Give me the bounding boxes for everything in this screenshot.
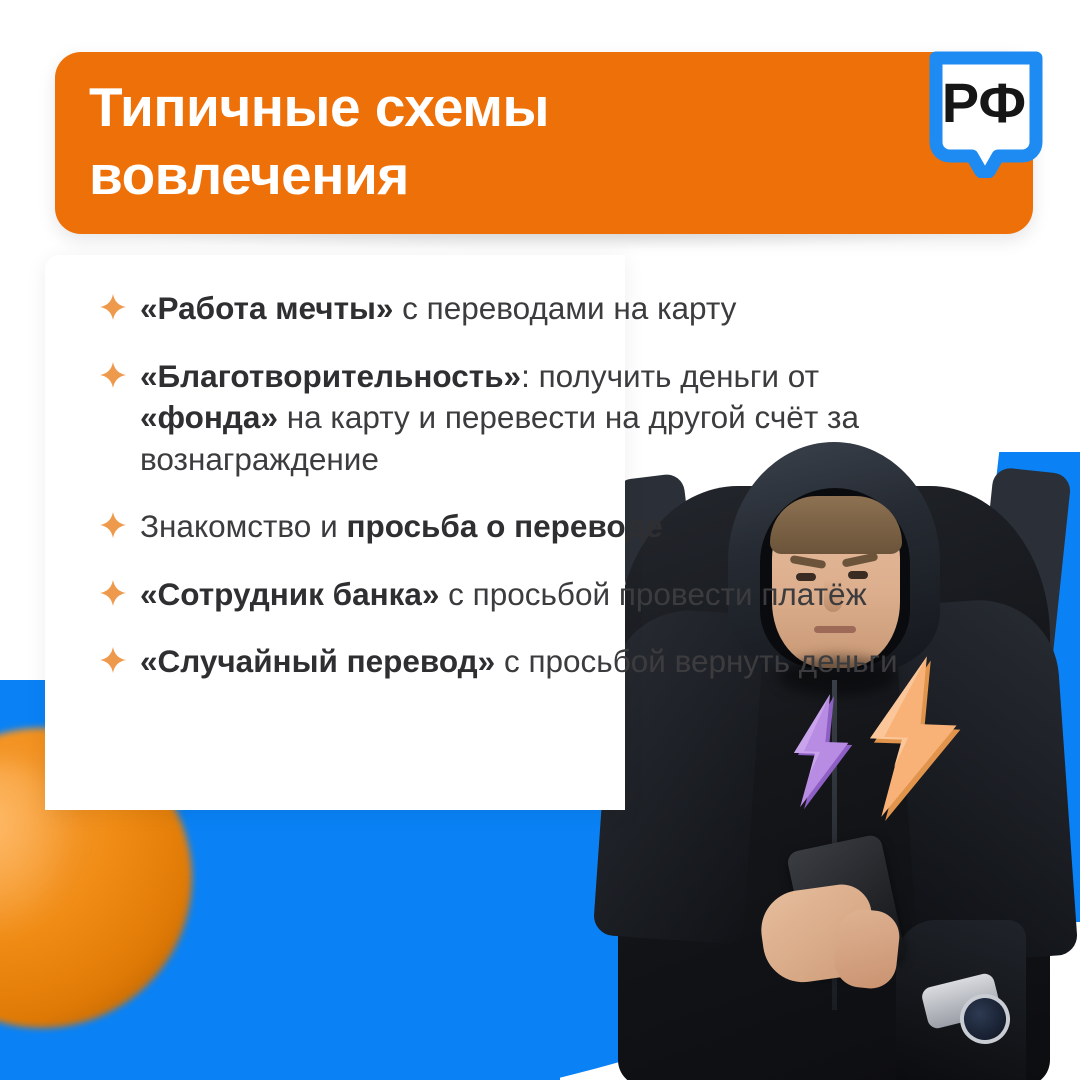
list-item-text: «Благотворительность»: получить деньги о… [140, 356, 930, 481]
list-item-text: «Сотрудник банка» с просьбой провести пл… [140, 574, 867, 616]
orange-diamond-icon [100, 362, 126, 388]
orange-diamond-icon [100, 294, 126, 320]
list-item: «Сотрудник банка» с просьбой провести пл… [100, 574, 930, 616]
infographic-poster: Типичные схемы вовлечения РФ «Работа меч… [0, 0, 1080, 1080]
header-card: Типичные схемы вовлечения [55, 52, 1033, 234]
list-item: «Работа мечты» с переводами на карту [100, 288, 930, 330]
list-item-text: «Работа мечты» с переводами на карту [140, 288, 736, 330]
rf-logo[interactable]: РФ [922, 46, 1050, 178]
page-title: Типичные схемы вовлечения [89, 74, 849, 209]
rf-logo-text: РФ [942, 71, 1026, 134]
list-item-text: «Случайный перевод» с просьбой вернуть д… [140, 641, 898, 683]
list-item: «Случайный перевод» с просьбой вернуть д… [100, 641, 930, 683]
list-item: Знакомство и просьба о переводе [100, 506, 930, 548]
schemes-list: «Работа мечты» с переводами на карту «Бл… [100, 288, 930, 683]
list-item-text: Знакомство и просьба о переводе [140, 506, 663, 548]
orange-diamond-icon [100, 512, 126, 538]
list-item: «Благотворительность»: получить деньги о… [100, 356, 930, 481]
orange-diamond-icon [100, 647, 126, 673]
orange-diamond-icon [100, 580, 126, 606]
